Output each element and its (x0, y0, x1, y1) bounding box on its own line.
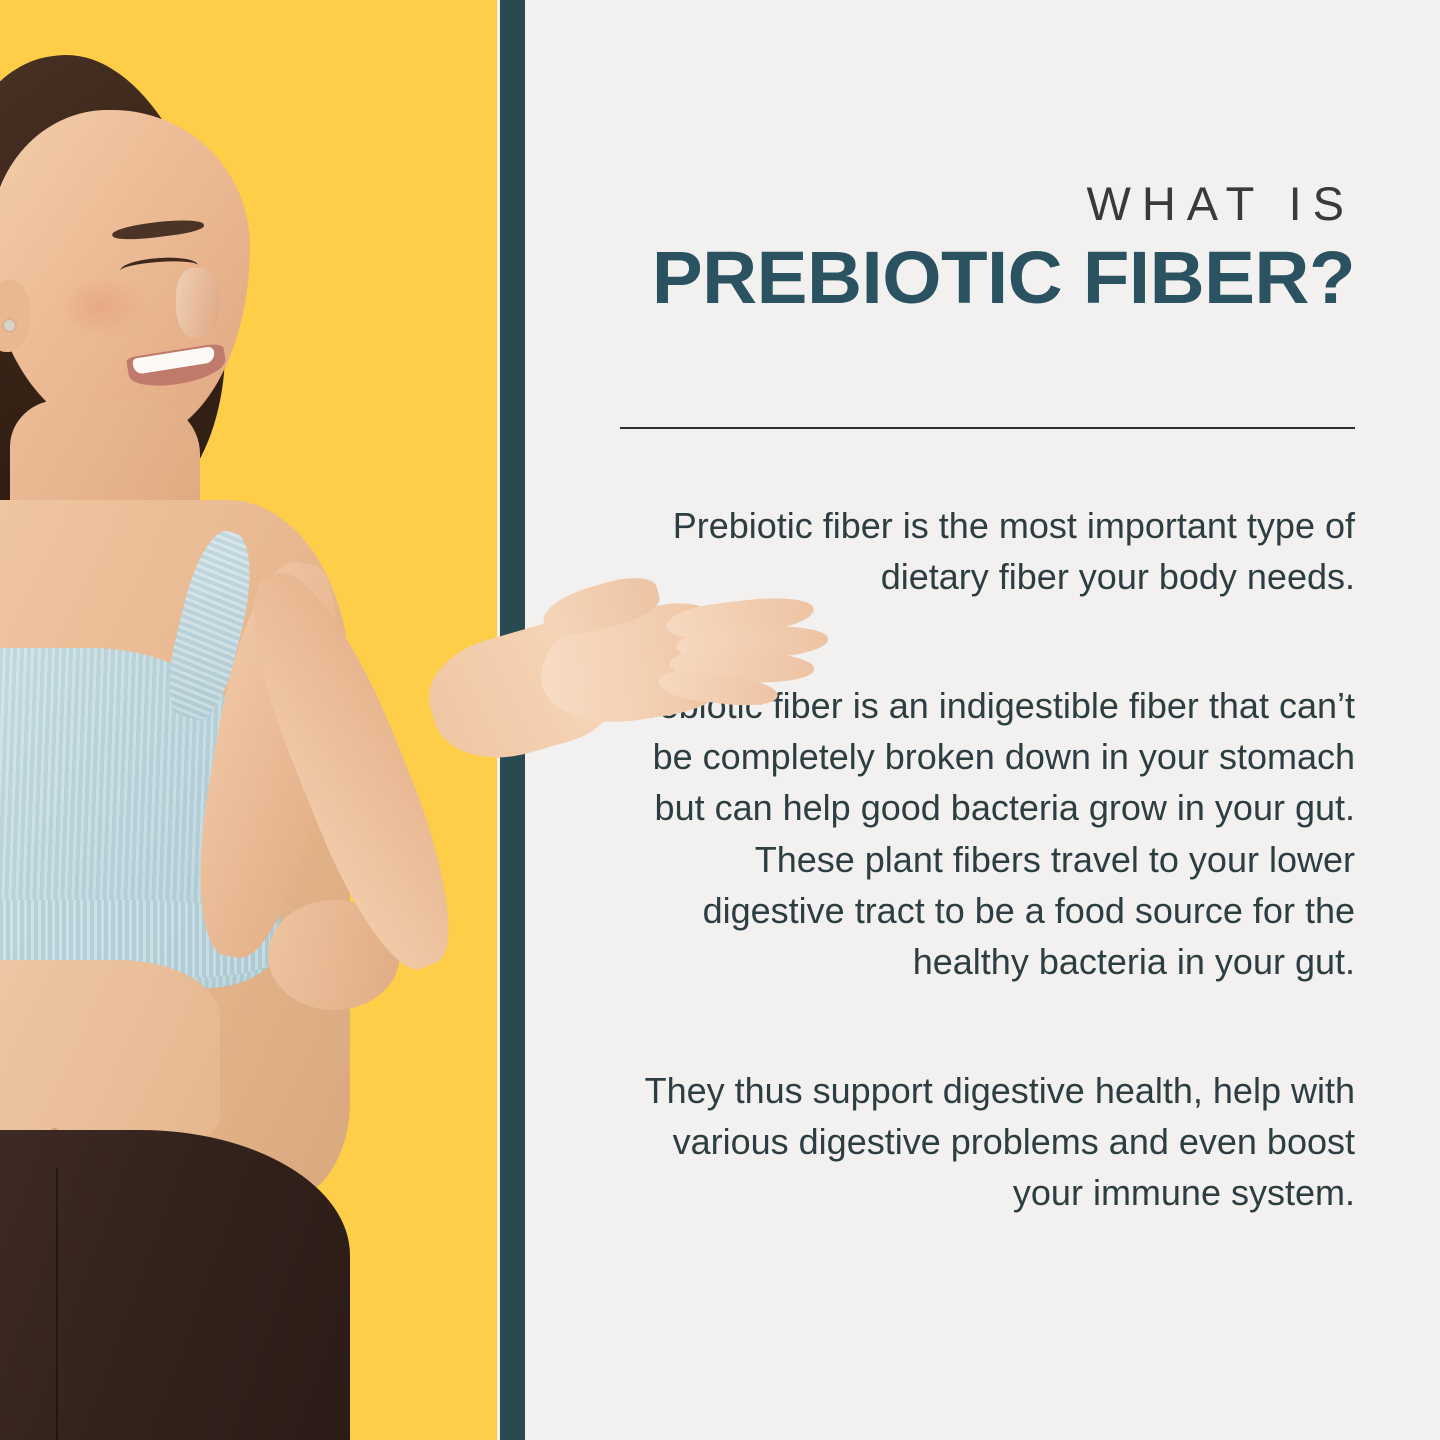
heading-kicker: WHAT IS (620, 180, 1355, 227)
model-photo-panel (0, 0, 497, 1440)
prebiotic-fiber-infographic: WHAT IS PREBIOTIC FIBER? Prebiotic fiber… (0, 0, 1440, 1440)
paragraph-3: They thus support digestive health, help… (620, 1065, 1355, 1218)
cheek-blush (58, 275, 144, 337)
page-title: PREBIOTIC FIBER? (598, 241, 1355, 315)
leggings-seam (56, 1168, 58, 1440)
earring (4, 320, 15, 331)
heading-block: WHAT IS PREBIOTIC FIBER? (620, 180, 1355, 315)
midriff (0, 960, 220, 1150)
leggings (0, 1130, 350, 1440)
paragraph-gap (620, 987, 1355, 1065)
horizontal-rule-divider (620, 427, 1355, 429)
open-palm-hand (430, 575, 850, 760)
